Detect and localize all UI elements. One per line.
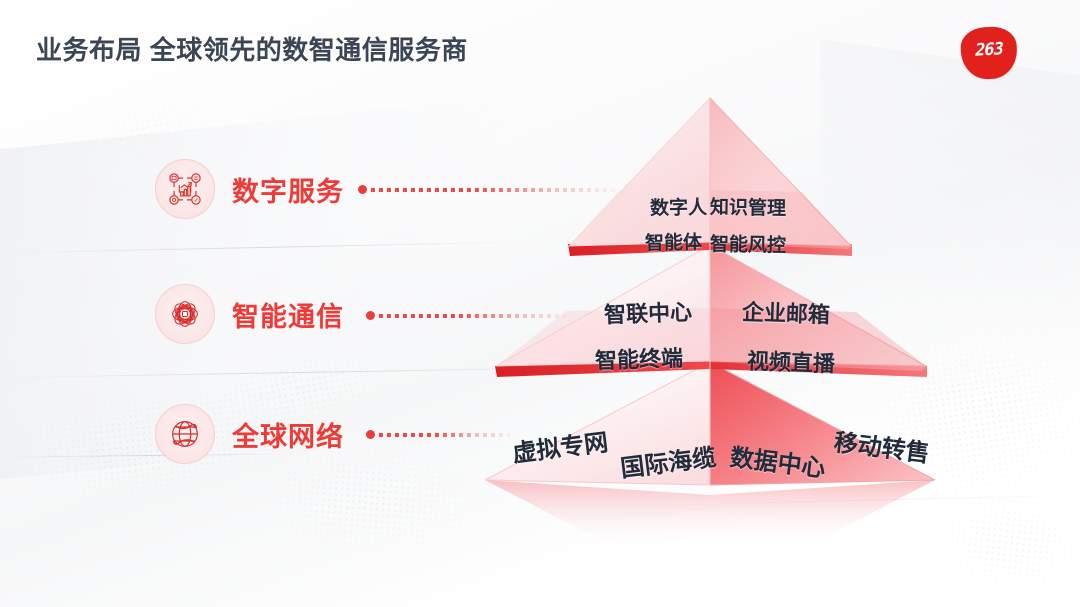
tier-2-left-item: 智联中心 [603,294,692,329]
logo-shield-shape: 263 [960,26,1019,81]
263-logo: 263 [961,27,1017,79]
ai-chip-icon [155,284,215,344]
tier-2-right-item: 企业邮箱 [741,294,830,329]
tier-1-right-item: 智能风控 [710,229,786,257]
tier-2-left-item: 智能终端 [594,340,683,375]
connector-dot [366,430,375,439]
page-title: 业务布局 全球领先的数智通信服务商 [36,30,468,67]
legend-label: 智能通信 [232,295,344,334]
pyramid-reflection [485,480,935,540]
globe-network-icon [155,404,215,464]
connector-dot [366,311,375,320]
tier-1-left-item: 数字人 [650,193,707,221]
connector-dot [358,185,367,194]
slide-canvas: 业务布局 全球领先的数智通信服务商 263 [0,0,1080,607]
legend-item-intelligent-communication[interactable]: 智能通信 [155,285,344,343]
logo-text: 263 [959,38,1018,61]
legend-label: 全球网络 [232,415,344,454]
digital-service-icon [155,159,215,219]
tier-1-right-item: 知识管理 [710,192,786,220]
legend-item-global-network[interactable]: 全球网络 [155,405,344,463]
legend-item-digital-service[interactable]: 数字服务 [155,160,344,218]
pyramid-tier-2[interactable] [496,238,926,366]
legend-label: 数字服务 [232,170,344,209]
tier-1-left-item: 智能体 [645,228,702,256]
slide-header: 业务布局 全球领先的数智通信服务商 263 [0,0,1080,92]
tier-2-right-item: 视频直播 [746,343,835,378]
